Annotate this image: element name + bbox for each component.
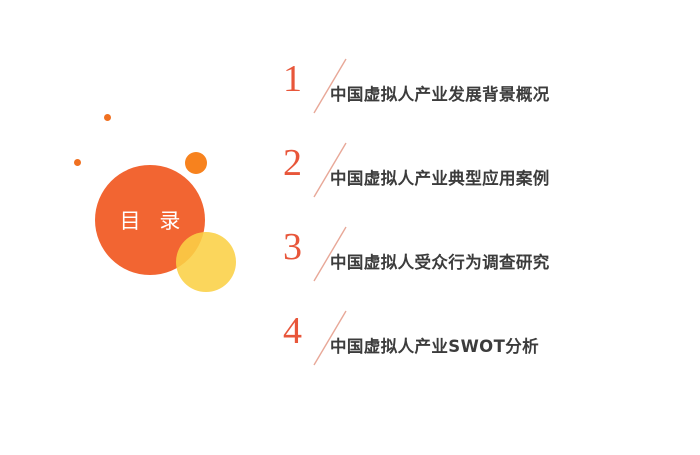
small-dot-icon-lower [74, 159, 81, 166]
list-item-label: 中国虚拟人产业典型应用案例 [330, 165, 550, 189]
item-number: 2 [283, 144, 302, 182]
list-item[interactable]: 3 中国虚拟人受众行为调查研究 [280, 223, 680, 307]
list-item-label: 中国虚拟人产业SWOT分析 [330, 333, 539, 357]
list-item[interactable]: 1 中国虚拟人产业发展背景概况 [280, 55, 680, 139]
decorative-graphic-cluster: 目 录 [0, 0, 280, 455]
list-item[interactable]: 2 中国虚拟人产业典型应用案例 [280, 139, 680, 223]
list-item-label: 中国虚拟人产业发展背景概况 [330, 81, 550, 105]
agenda-list: 1 中国虚拟人产业发展背景概况 2 中国虚拟人产业典型应用案例 3 [280, 55, 680, 391]
small-dot-icon-upper [104, 114, 111, 121]
item-number: 3 [283, 228, 302, 266]
list-item[interactable]: 4 中国虚拟人产业SWOT分析 [280, 307, 680, 391]
item-number: 4 [283, 312, 302, 350]
page-title: 目 录 [95, 165, 205, 275]
item-number: 1 [283, 60, 302, 98]
list-item-label: 中国虚拟人受众行为调查研究 [330, 249, 550, 273]
table-of-contents-slide: 目 录 1 中国虚拟人产业发展背景概况 2 中国虚拟人产业典型应用案例 3 [0, 0, 700, 455]
